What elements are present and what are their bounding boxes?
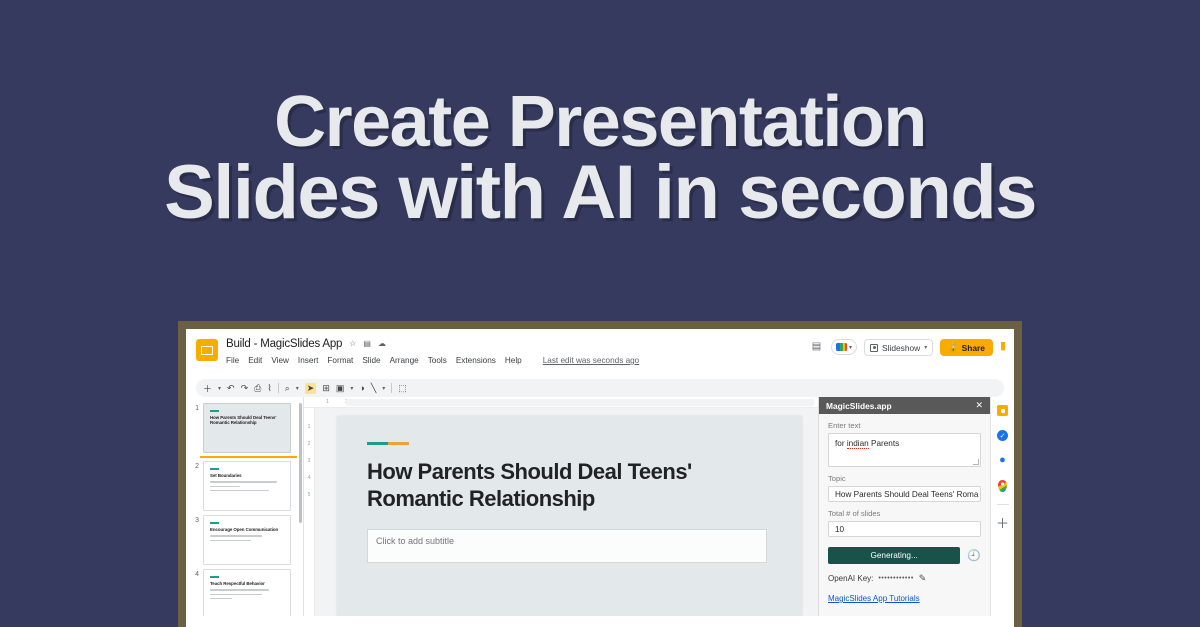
google-slides-icon xyxy=(196,339,218,361)
thumbnail-body-line xyxy=(210,490,269,491)
menu-item-arrange[interactable]: Arrange xyxy=(390,356,419,365)
editor-body: 1 How Parents Should Deal Teens' Romanti… xyxy=(186,397,1014,616)
add-slide-button[interactable]: ＋ xyxy=(203,382,212,395)
openai-key-row: OpenAI Key: •••••••••••• ✎ xyxy=(828,573,981,584)
accent-bar xyxy=(210,468,219,470)
google-contacts-icon[interactable]: ● xyxy=(996,454,1009,467)
enter-text-input[interactable]: for indian Parents xyxy=(828,433,981,467)
menu-item-extensions[interactable]: Extensions xyxy=(456,356,496,365)
slide-thumbnail[interactable]: Teach Respectful Behavior xyxy=(203,569,291,616)
enter-text-value-post: Parents xyxy=(869,439,900,448)
toolbar-divider xyxy=(391,383,392,393)
menu-item-file[interactable]: File xyxy=(226,356,239,365)
google-meet-button[interactable]: ▾ xyxy=(831,339,857,355)
thumbnail-title: Set Boundaries xyxy=(210,473,284,479)
magicslides-panel-title: MagicSlides.app xyxy=(826,401,892,411)
screenshot-frame: Build - MagicSlides App ☆ ▤ ☁ File Edit … xyxy=(178,321,1022,627)
magicslides-addon-panel: MagicSlides.app ✕ Enter text for indian … xyxy=(818,397,990,616)
list-item[interactable]: 1 How Parents Should Deal Teens' Romanti… xyxy=(186,401,303,455)
title-and-menu: Build - MagicSlides App ☆ ▤ ☁ File Edit … xyxy=(226,335,809,377)
last-edit-status[interactable]: Last edit was seconds ago xyxy=(543,356,640,365)
accent-bar xyxy=(210,522,219,524)
list-item[interactable]: 4 Teach Respectful Behavior xyxy=(186,567,303,616)
slide-canvas-area: 1 2 3 4 5 6 7 8 9 10 11 12 13 14 15 16 1 xyxy=(304,397,818,616)
enter-text-value-pre: for xyxy=(835,439,847,448)
toolbar-divider xyxy=(278,383,279,393)
menu-item-view[interactable]: View xyxy=(271,356,289,365)
vertical-ruler[interactable]: 1 2 3 4 5 xyxy=(304,408,315,616)
generate-button[interactable]: Generating... xyxy=(828,547,960,564)
thumbnail-body-line xyxy=(210,481,277,482)
enter-text-label: Enter text xyxy=(828,421,981,430)
menu-item-insert[interactable]: Insert xyxy=(298,356,318,365)
accent-bar xyxy=(210,576,219,578)
slideshow-label: Slideshow xyxy=(882,343,920,353)
insert-image-button[interactable]: ▣ xyxy=(336,383,345,394)
line-button[interactable]: ╲ xyxy=(371,383,376,394)
slide-stage: How Parents Should Deal Teens' Romantic … xyxy=(315,408,818,616)
generate-row: Generating... 🕘 xyxy=(828,547,981,564)
magicslides-form: Enter text for indian Parents Topic How … xyxy=(819,414,990,603)
slide-number: 4 xyxy=(190,569,199,616)
transition-button[interactable]: ⬚ xyxy=(398,383,407,394)
slide-filmstrip[interactable]: 1 How Parents Should Deal Teens' Romanti… xyxy=(186,397,304,616)
zoom-button[interactable]: ⌕ xyxy=(285,383,290,394)
accent-bar xyxy=(367,442,409,445)
rail-divider xyxy=(997,504,1009,505)
slides-top-bar: Build - MagicSlides App ☆ ▤ ☁ File Edit … xyxy=(186,329,1014,377)
pencil-edit-icon[interactable]: ✎ xyxy=(919,573,927,584)
share-label: Share xyxy=(962,343,985,353)
enter-text-value-misspelled: indian xyxy=(847,439,869,449)
ruler-tick: 1 xyxy=(318,399,337,405)
slideshow-button[interactable]: Slideshow ▾ xyxy=(864,339,933,356)
current-slide[interactable]: How Parents Should Deal Teens' Romantic … xyxy=(337,416,802,616)
comment-history-icon[interactable]: ▤ xyxy=(809,339,824,354)
ruler-tick: 3 xyxy=(308,458,311,464)
google-slides-window: Build - MagicSlides App ☆ ▤ ☁ File Edit … xyxy=(186,329,1014,627)
select-tool-button[interactable]: ➤ xyxy=(305,383,317,394)
insert-image-dropdown-icon[interactable]: ▾ xyxy=(350,385,353,392)
ruler-tick: 2 xyxy=(308,441,311,447)
slide-thumbnail[interactable]: How Parents Should Deal Teens' Romantic … xyxy=(203,403,291,453)
slide-number: 3 xyxy=(190,515,199,565)
cloud-status-icon[interactable]: ☁ xyxy=(378,340,386,348)
thumbnail-body-line xyxy=(210,535,262,536)
selection-indicator xyxy=(200,456,297,458)
print-button[interactable]: ⎙ xyxy=(254,383,261,394)
magicslides-panel-header: MagicSlides.app ✕ xyxy=(819,397,990,414)
add-on-plus-icon[interactable]: ＋ xyxy=(996,517,1009,530)
present-icon xyxy=(870,344,878,352)
shape-button[interactable]: ◑ xyxy=(359,383,364,393)
openai-key-value: •••••••••••• xyxy=(878,575,913,582)
document-title[interactable]: Build - MagicSlides App xyxy=(226,338,342,350)
thumbnail-body-line xyxy=(210,540,251,541)
ruler-tick: 5 xyxy=(308,492,311,498)
close-icon[interactable]: ✕ xyxy=(975,400,983,411)
google-meet-icon xyxy=(836,343,847,351)
slide-subtitle-placeholder[interactable]: Click to add subtitle xyxy=(367,529,767,563)
menu-item-help[interactable]: Help xyxy=(505,356,522,365)
undo-button[interactable]: ↶ xyxy=(227,383,235,394)
redo-button[interactable]: ↷ xyxy=(241,383,249,394)
slide-number: 2 xyxy=(190,461,199,511)
google-keep-icon[interactable] xyxy=(996,404,1009,417)
top-bar-actions: ▤ ▾ Slideshow ▾ 🔒 Share ▮ xyxy=(809,335,1006,377)
line-dropdown-icon[interactable]: ▾ xyxy=(382,385,385,392)
editing-toolbar: ＋ ▾ ↶ ↷ ⎙ ⌇ ⌕ ▾ ➤ ⊞ ▣ ▾ ◑ ╲ ▾ ⬚ xyxy=(196,379,1004,397)
ruler-indent-strip xyxy=(346,399,814,406)
thumbnail-title: Teach Respectful Behavior xyxy=(210,581,284,587)
text-box-button[interactable]: ⊞ xyxy=(322,383,330,394)
list-item[interactable]: 2 Set Boundaries xyxy=(186,459,303,513)
topic-label: Topic xyxy=(828,474,981,483)
menu-item-slide[interactable]: Slide xyxy=(362,356,380,365)
openai-key-label: OpenAI Key: xyxy=(828,574,873,583)
paint-format-button[interactable]: ⌇ xyxy=(267,383,271,394)
thumbnail-body-line xyxy=(210,598,232,599)
horizontal-ruler[interactable]: 1 2 3 4 5 6 7 8 9 10 11 12 13 14 15 16 1 xyxy=(304,397,818,408)
explore-chart-icon[interactable]: ▮ xyxy=(1000,339,1006,352)
chevron-down-icon[interactable]: ▾ xyxy=(924,344,927,351)
thumbnail-body-line xyxy=(210,589,269,590)
share-button[interactable]: 🔒 Share xyxy=(940,339,993,356)
add-slide-dropdown-icon[interactable]: ▾ xyxy=(218,385,221,392)
slide-thumbnail[interactable]: Encourage Open Communication xyxy=(203,515,291,565)
slides-count-label: Total # of slides xyxy=(828,509,981,518)
slide-number: 1 xyxy=(190,403,199,453)
history-clock-icon[interactable]: 🕘 xyxy=(967,549,981,562)
thumbnail-title: How Parents Should Deal Teens' Romantic … xyxy=(210,415,284,427)
menu-item-tools[interactable]: Tools xyxy=(428,356,447,365)
menu-item-format[interactable]: Format xyxy=(327,356,353,365)
filmstrip-scrollbar[interactable] xyxy=(299,403,302,523)
thumbnail-body-line xyxy=(210,594,262,595)
move-to-folder-icon[interactable]: ▤ xyxy=(363,340,371,348)
list-item[interactable]: 3 Encourage Open Communication xyxy=(186,513,303,567)
google-side-rail: ✓ ● ＋ xyxy=(990,397,1014,616)
tutorials-link[interactable]: MagicSlides App Tutorials xyxy=(828,594,981,603)
hero-heading: Create Presentation Slides with AI in se… xyxy=(0,88,1200,230)
topic-input[interactable]: How Parents Should Deal Teens' Roma xyxy=(828,486,981,502)
menu-item-edit[interactable]: Edit xyxy=(248,356,262,365)
google-tasks-icon[interactable]: ✓ xyxy=(996,429,1009,442)
zoom-dropdown-icon[interactable]: ▾ xyxy=(296,385,299,392)
google-maps-icon[interactable] xyxy=(996,479,1009,492)
slide-title-text[interactable]: How Parents Should Deal Teens' Romantic … xyxy=(367,459,757,513)
ruler-tick: 1 xyxy=(308,424,311,430)
chevron-down-icon: ▾ xyxy=(849,344,852,351)
hero-line-2: Slides with AI in seconds xyxy=(0,157,1200,230)
thumbnail-body-line xyxy=(210,486,240,487)
menu-bar: File Edit View Insert Format Slide Arran… xyxy=(226,356,809,365)
accent-bar xyxy=(210,410,219,412)
star-icon[interactable]: ☆ xyxy=(349,340,356,348)
slides-count-input[interactable]: 10 xyxy=(828,521,981,537)
ruler-tick: 4 xyxy=(308,475,311,481)
lock-icon: 🔒 xyxy=(948,342,958,353)
thumbnail-title: Encourage Open Communication xyxy=(210,527,284,533)
slide-thumbnail[interactable]: Set Boundaries xyxy=(203,461,291,511)
